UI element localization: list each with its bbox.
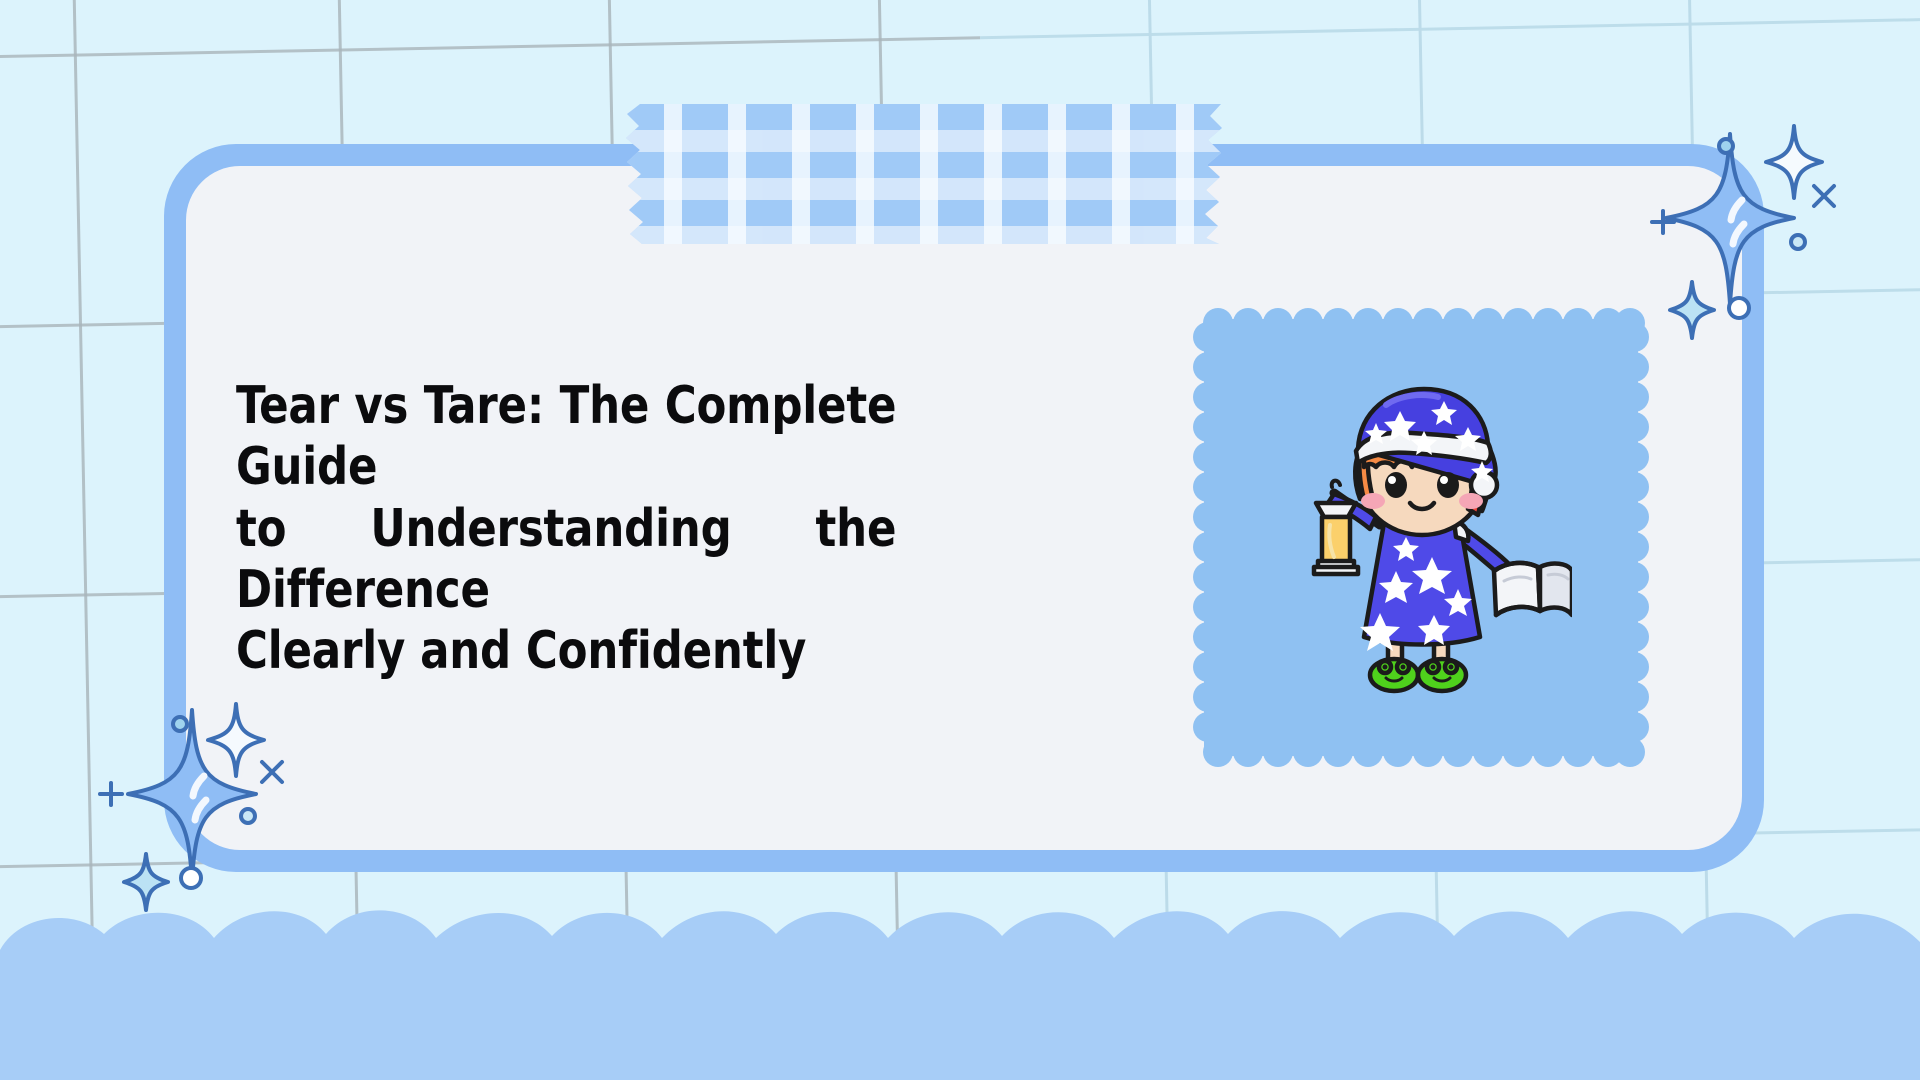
- title-block: Tear vs Tare: The Complete Guide to Unde…: [236, 376, 946, 683]
- open-book-icon: [1494, 563, 1572, 615]
- title-line-2: to Understanding the Difference: [236, 499, 896, 622]
- sparkle-cluster-bottom-left: [62, 680, 312, 930]
- scalloped-square-frame: [1190, 305, 1652, 770]
- sparkle-cluster-top-right: [1618, 112, 1868, 362]
- girl-with-lantern-and-book-illustration: [1272, 375, 1572, 705]
- page-canvas: Tear vs Tare: The Complete Guide to Unde…: [0, 0, 1920, 1080]
- title-line-3: Clearly and Confidently: [236, 621, 896, 682]
- title-line-1: Tear vs Tare: The Complete Guide: [236, 376, 896, 499]
- washi-tape-gingham: [618, 104, 1243, 244]
- frog-slippers-icon: [1370, 659, 1466, 691]
- page-title: Tear vs Tare: The Complete Guide to Unde…: [236, 376, 896, 683]
